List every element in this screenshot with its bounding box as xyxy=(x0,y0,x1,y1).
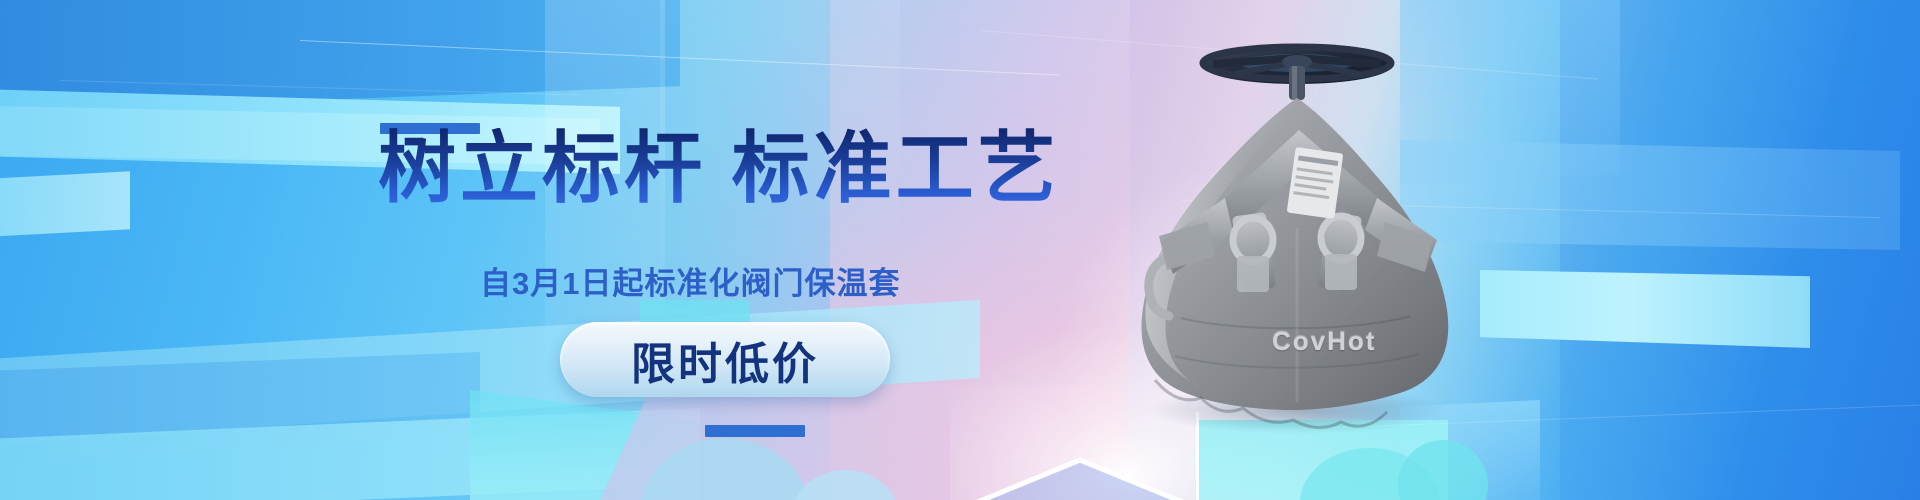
banner-subtitle: 自3月1日起标准化阀门保温套 xyxy=(480,258,1120,303)
bg-right-overlay xyxy=(1560,0,1920,500)
cta-label: 限时低价 xyxy=(631,328,819,392)
product-brand-text: CovHot xyxy=(1272,326,1376,357)
promo-banner: 树立标杆 标准工艺 自3月1日起标准化阀门保温套 限时低价 xyxy=(0,0,1920,500)
bg-circle-cyan-1 xyxy=(1300,448,1440,500)
spec-label-tag xyxy=(1287,147,1344,219)
bg-circle-cyan-2 xyxy=(1398,440,1488,500)
product-image-valve-insulation-jacket xyxy=(1085,18,1505,438)
valve-handwheel xyxy=(1203,47,1391,100)
banner-content: 树立标杆 标准工艺 自3月1日起标准化阀门保温套 限时低价 xyxy=(0,0,1100,500)
cta-accent-dash xyxy=(705,425,805,437)
banner-title: 树立标杆 标准工艺 xyxy=(378,128,1078,210)
bg-right-cyan-wedge xyxy=(1480,270,1810,348)
limited-time-offer-button[interactable]: 限时低价 xyxy=(560,322,890,397)
